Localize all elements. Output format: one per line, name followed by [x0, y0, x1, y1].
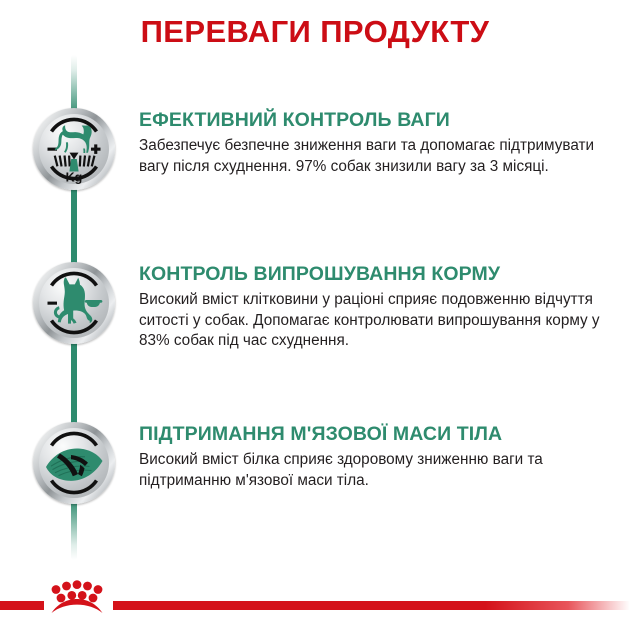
- benefit-item: КОНТРОЛЬ ВИПРОШУВАННЯ КОРМУ Високий вміс…: [0, 262, 630, 351]
- benefit-text-block: КОНТРОЛЬ ВИПРОШУВАННЯ КОРМУ Високий вміс…: [115, 262, 630, 351]
- muscle-fiber-icon: [33, 422, 115, 504]
- benefit-item: Kg ЕФЕКТИВНИЙ КОНТРОЛЬ ВАГИ Забезпечує б…: [0, 108, 630, 190]
- benefit-body: Високий вміст клітковини у раціоні сприя…: [139, 290, 608, 351]
- royal-canin-crown-logo: [42, 578, 112, 622]
- benefit-title: КОНТРОЛЬ ВИПРОШУВАННЯ КОРМУ: [139, 264, 608, 285]
- benefit-title: ПІДТРИМАННЯ М'ЯЗОВОЇ МАСИ ТІЛА: [139, 424, 608, 445]
- benefit-text-block: ЕФЕКТИВНИЙ КОНТРОЛЬ ВАГИ Забезпечує безп…: [115, 108, 630, 177]
- benefit-text-block: ПІДТРИМАННЯ М'ЯЗОВОЇ МАСИ ТІЛА Високий в…: [115, 422, 630, 491]
- benefit-title: ЕФЕКТИВНИЙ КОНТРОЛЬ ВАГИ: [139, 110, 608, 131]
- dog-on-weight-scale-icon: Kg: [33, 108, 115, 190]
- product-benefits-page: ПЕРЕВАГИ ПРОДУКТУ: [0, 0, 630, 630]
- benefit-body: Забезпечує безпечне зниження ваги та доп…: [139, 136, 608, 177]
- footer-rule-right: [113, 601, 630, 610]
- svg-text:Kg: Kg: [66, 170, 83, 184]
- dog-with-food-bowl-icon: [33, 262, 115, 344]
- benefit-body: Високий вміст білка сприяє здоровому зни…: [139, 450, 608, 491]
- page-title: ПЕРЕВАГИ ПРОДУКТУ: [0, 14, 630, 50]
- benefit-item: ПІДТРИМАННЯ М'ЯЗОВОЇ МАСИ ТІЛА Високий в…: [0, 422, 630, 504]
- footer-rule-left: [0, 601, 44, 610]
